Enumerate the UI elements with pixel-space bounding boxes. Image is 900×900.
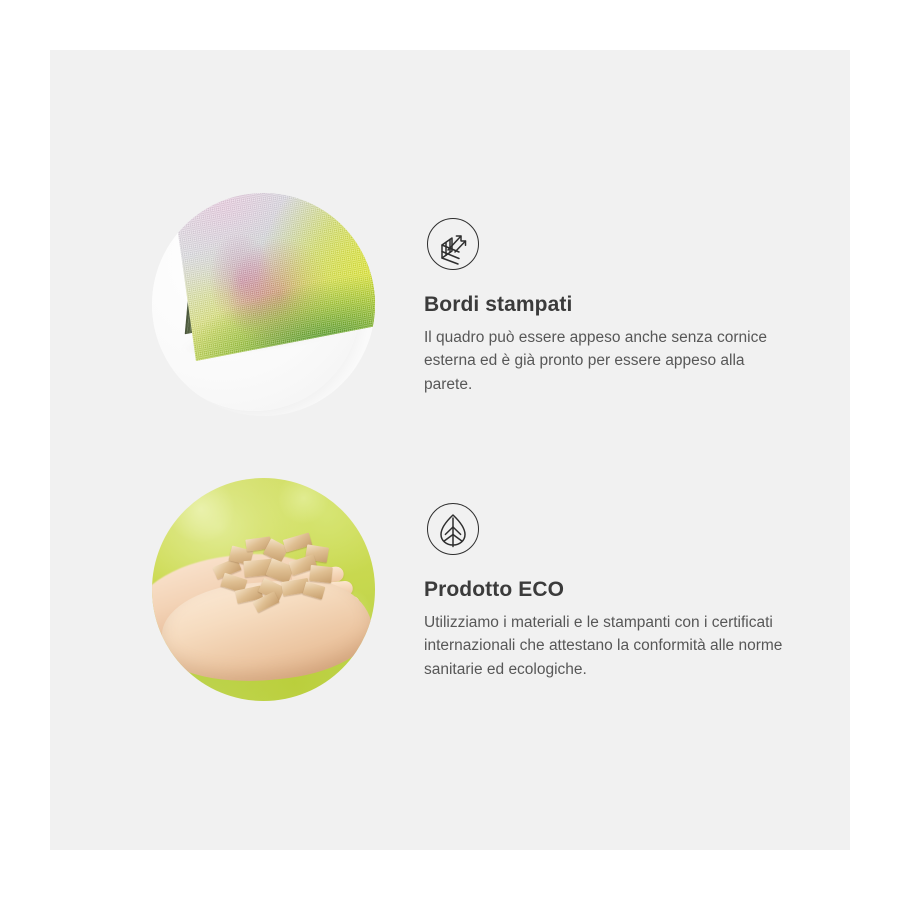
- hands-wood-chips-photo: [152, 478, 375, 701]
- canvas-corner-photo: [152, 193, 375, 416]
- leaf-icon: [427, 503, 479, 555]
- printed-edges-icon: [427, 218, 479, 270]
- feature-text-printed-edges: Bordi stampati Il quadro può essere appe…: [424, 193, 804, 396]
- feature-text-eco-product: Prodotto ECO Utilizziamo i materiali e l…: [424, 478, 804, 681]
- feature-description: Il quadro può essere appeso anche senza …: [424, 326, 792, 396]
- feature-title: Bordi stampati: [424, 292, 804, 317]
- feature-description: Utilizziamo i materiali e le stampanti c…: [424, 611, 792, 681]
- feature-title: Prodotto ECO: [424, 577, 804, 602]
- wood-chips: [210, 536, 342, 612]
- content-panel: Bordi stampati Il quadro può essere appe…: [50, 50, 850, 850]
- product-feature-page: Bordi stampati Il quadro può essere appe…: [0, 0, 900, 900]
